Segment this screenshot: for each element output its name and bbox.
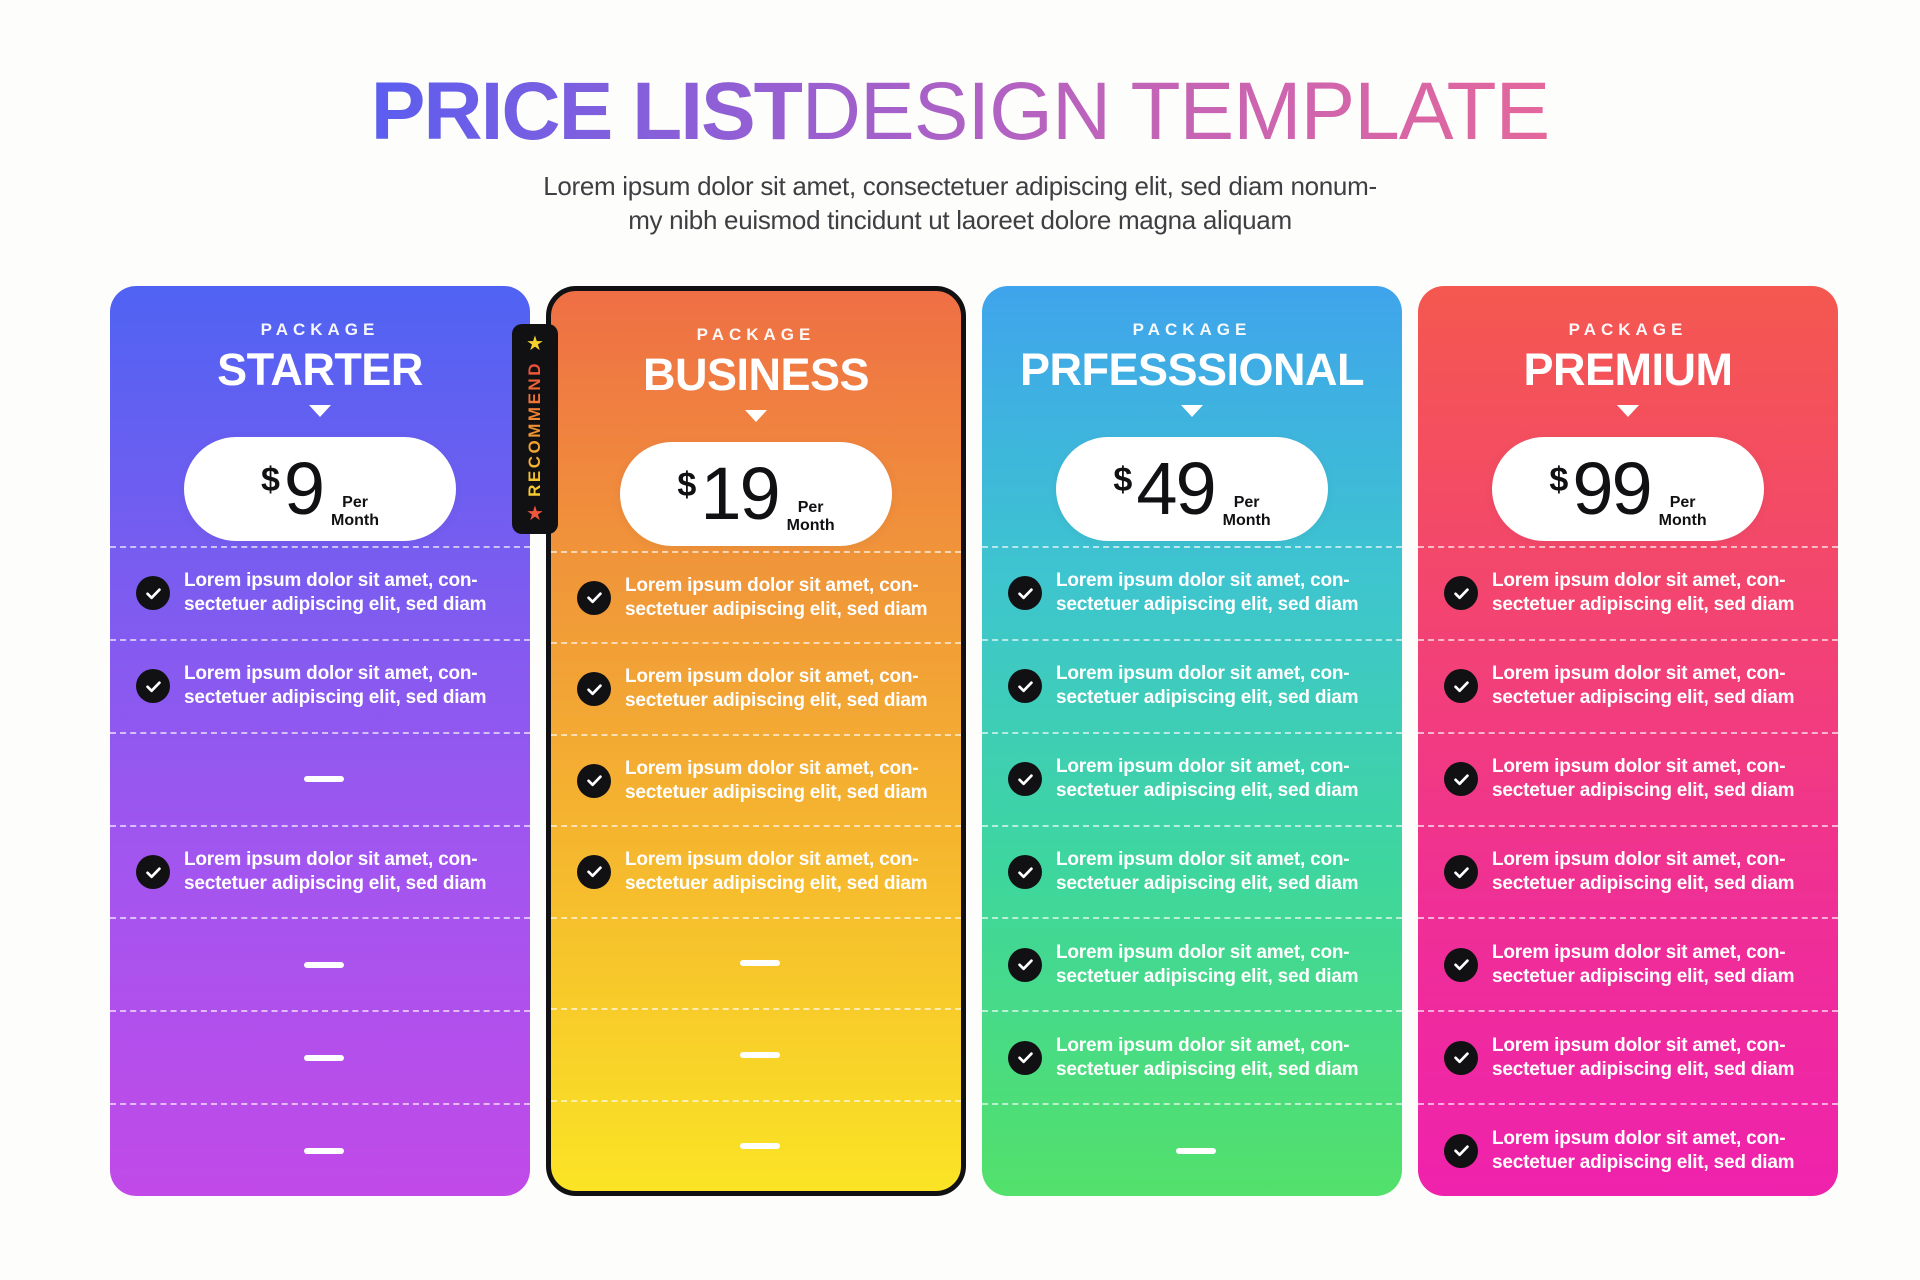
- feature-label: Lorem ipsum dolor sit amet, con-sectetue…: [1056, 755, 1358, 803]
- feature-row-included: Lorem ipsum dolor sit amet, con-sectetue…: [1418, 639, 1838, 732]
- pricing-card-body: PACKAGEBUSINESS$19PerMonthLorem ipsum do…: [546, 286, 966, 1196]
- feature-label-line-2: sectetuer adipiscing elit, sed diam: [184, 594, 486, 615]
- feature-label: Lorem ipsum dolor sit amet, con-sectetue…: [184, 569, 486, 617]
- check-icon: [1444, 948, 1478, 982]
- recommend-badge-label: RECOMMEND: [525, 361, 545, 497]
- feature-row-included: Lorem ipsum dolor sit amet, con-sectetue…: [1418, 917, 1838, 1010]
- feature-label-line-1: Lorem ipsum dolor sit amet, con-: [625, 758, 918, 779]
- billing-period: PerMonth: [787, 499, 835, 534]
- billing-period-line-2: Month: [1659, 512, 1707, 529]
- pricing-card-prfesssional[interactable]: PACKAGEPRFESSSIONAL$49PerMonthLorem ipsu…: [982, 286, 1402, 1196]
- feature-label: Lorem ipsum dolor sit amet, con-sectetue…: [1056, 941, 1358, 989]
- feature-label-line-1: Lorem ipsum dolor sit amet, con-: [1492, 849, 1785, 870]
- feature-label-line-2: sectetuer adipiscing elit, sed diam: [1056, 1059, 1358, 1080]
- feature-row-excluded: [110, 1103, 530, 1196]
- pricing-card-header: PACKAGEPRFESSSIONAL$49PerMonth: [982, 286, 1402, 546]
- dash-icon: [304, 776, 344, 782]
- feature-label-line-2: sectetuer adipiscing elit, sed diam: [1492, 966, 1794, 987]
- feature-label: Lorem ipsum dolor sit amet, con-sectetue…: [1492, 755, 1794, 803]
- price-pill[interactable]: $19PerMonth: [620, 442, 892, 546]
- dash-icon: [740, 960, 780, 966]
- feature-row-included: Lorem ipsum dolor sit amet, con-sectetue…: [110, 825, 530, 918]
- feature-row-included: Lorem ipsum dolor sit amet, con-sectetue…: [551, 642, 961, 733]
- star-icon-top: ★: [526, 334, 544, 354]
- feature-label-line-2: sectetuer adipiscing elit, sed diam: [1056, 873, 1358, 894]
- billing-period-line-2: Month: [787, 517, 835, 534]
- feature-label: Lorem ipsum dolor sit amet, con-sectetue…: [1492, 569, 1794, 617]
- feature-row-included: Lorem ipsum dolor sit amet, con-sectetue…: [982, 732, 1402, 825]
- pricing-card-header: PACKAGEBUSINESS$19PerMonth: [551, 291, 961, 551]
- chevron-down-icon: [745, 410, 767, 422]
- feature-label: Lorem ipsum dolor sit amet, con-sectetue…: [1056, 848, 1358, 896]
- check-icon: [1444, 855, 1478, 889]
- feature-label: Lorem ipsum dolor sit amet, con-sectetue…: [184, 662, 486, 710]
- feature-row-included: Lorem ipsum dolor sit amet, con-sectetue…: [1418, 825, 1838, 918]
- package-name: PRFESSSIONAL: [982, 346, 1402, 393]
- feature-row-included: Lorem ipsum dolor sit amet, con-sectetue…: [1418, 546, 1838, 639]
- currency-symbol: $: [1549, 461, 1568, 500]
- check-icon: [577, 672, 611, 706]
- check-icon: [1444, 576, 1478, 610]
- dash-icon: [740, 1052, 780, 1058]
- feature-label-line-1: Lorem ipsum dolor sit amet, con-: [184, 570, 477, 591]
- pricing-card-starter[interactable]: PACKAGESTARTER$9PerMonthLorem ipsum dolo…: [110, 286, 530, 1196]
- check-icon: [1444, 669, 1478, 703]
- check-icon: [1444, 762, 1478, 796]
- billing-period: PerMonth: [1659, 494, 1707, 529]
- feature-label-line-2: sectetuer adipiscing elit, sed diam: [1492, 780, 1794, 801]
- page-title-light: DESIGN TEMPLATE: [802, 66, 1549, 157]
- feature-label-line-1: Lorem ipsum dolor sit amet, con-: [1492, 570, 1785, 591]
- feature-label-line-1: Lorem ipsum dolor sit amet, con-: [1056, 570, 1349, 591]
- dash-icon: [304, 1148, 344, 1154]
- price-amount: 19: [700, 457, 778, 531]
- feature-row-included: Lorem ipsum dolor sit amet, con-sectetue…: [982, 546, 1402, 639]
- feature-label-line-2: sectetuer adipiscing elit, sed diam: [184, 873, 486, 894]
- recommend-badge: ★RECOMMEND★: [512, 324, 558, 534]
- check-icon: [1008, 855, 1042, 889]
- feature-row-included: Lorem ipsum dolor sit amet, con-sectetue…: [1418, 1010, 1838, 1103]
- package-name: BUSINESS: [551, 351, 961, 398]
- page-title: PRICE LISTDESIGN TEMPLATE: [0, 72, 1920, 152]
- feature-label-line-2: sectetuer adipiscing elit, sed diam: [625, 690, 927, 711]
- feature-label: Lorem ipsum dolor sit amet, con-sectetue…: [1492, 1127, 1794, 1175]
- pricing-card-premium[interactable]: PACKAGEPREMIUM$99PerMonthLorem ipsum dol…: [1418, 286, 1838, 1196]
- feature-row-included: Lorem ipsum dolor sit amet, con-sectetue…: [110, 546, 530, 639]
- check-icon: [1444, 1041, 1478, 1075]
- billing-period-line-2: Month: [1223, 512, 1271, 529]
- pricing-card-header: PACKAGEPREMIUM$99PerMonth: [1418, 286, 1838, 546]
- feature-label-line-1: Lorem ipsum dolor sit amet, con-: [1056, 849, 1349, 870]
- feature-row-excluded: [982, 1103, 1402, 1196]
- billing-period: PerMonth: [331, 494, 379, 529]
- feature-label-line-2: sectetuer adipiscing elit, sed diam: [625, 599, 927, 620]
- feature-label-line-1: Lorem ipsum dolor sit amet, con-: [184, 849, 477, 870]
- feature-label: Lorem ipsum dolor sit amet, con-sectetue…: [1056, 662, 1358, 710]
- feature-row-included: Lorem ipsum dolor sit amet, con-sectetue…: [110, 639, 530, 732]
- price-amount: 9: [284, 452, 323, 526]
- feature-label: Lorem ipsum dolor sit amet, con-sectetue…: [1492, 941, 1794, 989]
- feature-label-line-1: Lorem ipsum dolor sit amet, con-: [1056, 663, 1349, 684]
- feature-row-excluded: [110, 1010, 530, 1103]
- package-label: PACKAGE: [982, 320, 1402, 340]
- feature-row-included: Lorem ipsum dolor sit amet, con-sectetue…: [1418, 1103, 1838, 1196]
- feature-label-line-1: Lorem ipsum dolor sit amet, con-: [1056, 1035, 1349, 1056]
- page-subtitle-line-2: my nibh euismod tincidunt ut laoreet dol…: [0, 204, 1920, 237]
- billing-period-line-1: Per: [1670, 494, 1696, 511]
- feature-label: Lorem ipsum dolor sit amet, con-sectetue…: [1056, 1034, 1358, 1082]
- feature-label-line-1: Lorem ipsum dolor sit amet, con-: [184, 663, 477, 684]
- feature-row-included: Lorem ipsum dolor sit amet, con-sectetue…: [551, 825, 961, 916]
- check-icon: [1008, 576, 1042, 610]
- pricing-card-business[interactable]: PACKAGEBUSINESS$19PerMonthLorem ipsum do…: [546, 286, 966, 1196]
- check-icon: [1008, 762, 1042, 796]
- dash-icon: [304, 962, 344, 968]
- feature-label: Lorem ipsum dolor sit amet, con-sectetue…: [1492, 1034, 1794, 1082]
- dash-icon: [304, 1055, 344, 1061]
- feature-label-line-1: Lorem ipsum dolor sit amet, con-: [1492, 663, 1785, 684]
- billing-period-line-1: Per: [342, 494, 368, 511]
- feature-label: Lorem ipsum dolor sit amet, con-sectetue…: [1492, 662, 1794, 710]
- billing-period-line-2: Month: [331, 512, 379, 529]
- pricing-cards-row: PACKAGESTARTER$9PerMonthLorem ipsum dolo…: [110, 286, 1838, 1196]
- feature-label-line-2: sectetuer adipiscing elit, sed diam: [1056, 687, 1358, 708]
- dash-icon: [740, 1143, 780, 1149]
- feature-label-line-2: sectetuer adipiscing elit, sed diam: [1056, 594, 1358, 615]
- feature-row-included: Lorem ipsum dolor sit amet, con-sectetue…: [982, 917, 1402, 1010]
- check-icon: [577, 581, 611, 615]
- feature-label-line-1: Lorem ipsum dolor sit amet, con-: [625, 666, 918, 687]
- feature-row-included: Lorem ipsum dolor sit amet, con-sectetue…: [982, 639, 1402, 732]
- feature-label-line-2: sectetuer adipiscing elit, sed diam: [625, 873, 927, 894]
- feature-row-excluded: [551, 1008, 961, 1099]
- page-title-bold: PRICE LIST: [371, 66, 802, 157]
- feature-label-line-2: sectetuer adipiscing elit, sed diam: [1492, 687, 1794, 708]
- price-pill[interactable]: $99PerMonth: [1492, 437, 1764, 541]
- feature-row-excluded: [551, 1100, 961, 1191]
- feature-row-excluded: [110, 917, 530, 1010]
- feature-label-line-2: sectetuer adipiscing elit, sed diam: [1492, 1152, 1794, 1173]
- feature-label-line-2: sectetuer adipiscing elit, sed diam: [1492, 873, 1794, 894]
- feature-row-included: Lorem ipsum dolor sit amet, con-sectetue…: [551, 551, 961, 642]
- chevron-down-icon: [1617, 405, 1639, 417]
- feature-label-line-2: sectetuer adipiscing elit, sed diam: [625, 782, 927, 803]
- feature-label-line-2: sectetuer adipiscing elit, sed diam: [184, 687, 486, 708]
- check-icon: [577, 764, 611, 798]
- dash-icon: [1176, 1148, 1216, 1154]
- feature-list: Lorem ipsum dolor sit amet, con-sectetue…: [1418, 546, 1838, 1196]
- feature-label-line-1: Lorem ipsum dolor sit amet, con-: [1492, 756, 1785, 777]
- pricing-card-body: PACKAGESTARTER$9PerMonthLorem ipsum dolo…: [110, 286, 530, 1196]
- package-label: PACKAGE: [110, 320, 530, 340]
- feature-label: Lorem ipsum dolor sit amet, con-sectetue…: [184, 848, 486, 896]
- pricing-card-body: PACKAGEPREMIUM$99PerMonthLorem ipsum dol…: [1418, 286, 1838, 1196]
- pricing-card-body: PACKAGEPRFESSSIONAL$49PerMonthLorem ipsu…: [982, 286, 1402, 1196]
- feature-label: Lorem ipsum dolor sit amet, con-sectetue…: [625, 757, 927, 805]
- feature-label-line-2: sectetuer adipiscing elit, sed diam: [1056, 966, 1358, 987]
- currency-symbol: $: [677, 466, 696, 505]
- feature-row-excluded: [551, 917, 961, 1008]
- feature-label: Lorem ipsum dolor sit amet, con-sectetue…: [625, 848, 927, 896]
- feature-label-line-1: Lorem ipsum dolor sit amet, con-: [625, 849, 918, 870]
- currency-symbol: $: [1113, 461, 1132, 500]
- billing-period-line-1: Per: [798, 499, 824, 516]
- feature-label: Lorem ipsum dolor sit amet, con-sectetue…: [1056, 569, 1358, 617]
- currency-symbol: $: [261, 461, 280, 500]
- price-amount: 49: [1136, 452, 1214, 526]
- check-icon: [136, 576, 170, 610]
- check-icon: [1008, 669, 1042, 703]
- check-icon: [136, 855, 170, 889]
- check-icon: [136, 669, 170, 703]
- price-list-page: PRICE LISTDESIGN TEMPLATE Lorem ipsum do…: [0, 0, 1920, 1280]
- pricing-card-header: PACKAGESTARTER$9PerMonth: [110, 286, 530, 546]
- price-amount: 99: [1572, 452, 1650, 526]
- page-header: PRICE LISTDESIGN TEMPLATE Lorem ipsum do…: [0, 0, 1920, 237]
- billing-period: PerMonth: [1223, 494, 1271, 529]
- feature-label: Lorem ipsum dolor sit amet, con-sectetue…: [625, 665, 927, 713]
- package-name: STARTER: [110, 346, 530, 393]
- price-pill[interactable]: $49PerMonth: [1056, 437, 1328, 541]
- package-label: PACKAGE: [551, 325, 961, 345]
- feature-row-included: Lorem ipsum dolor sit amet, con-sectetue…: [551, 734, 961, 825]
- package-name: PREMIUM: [1418, 346, 1838, 393]
- feature-row-included: Lorem ipsum dolor sit amet, con-sectetue…: [982, 825, 1402, 918]
- page-subtitle-line-1: Lorem ipsum dolor sit amet, consectetuer…: [0, 170, 1920, 203]
- feature-label-line-1: Lorem ipsum dolor sit amet, con-: [625, 575, 918, 596]
- feature-list: Lorem ipsum dolor sit amet, con-sectetue…: [110, 546, 530, 1196]
- check-icon: [1444, 1134, 1478, 1168]
- chevron-down-icon: [1181, 405, 1203, 417]
- page-subtitle: Lorem ipsum dolor sit amet, consectetuer…: [0, 170, 1920, 237]
- feature-label-line-1: Lorem ipsum dolor sit amet, con-: [1056, 942, 1349, 963]
- feature-row-included: Lorem ipsum dolor sit amet, con-sectetue…: [1418, 732, 1838, 825]
- feature-label-line-1: Lorem ipsum dolor sit amet, con-: [1056, 756, 1349, 777]
- feature-label-line-1: Lorem ipsum dolor sit amet, con-: [1492, 1128, 1785, 1149]
- feature-label-line-2: sectetuer adipiscing elit, sed diam: [1056, 780, 1358, 801]
- feature-label-line-1: Lorem ipsum dolor sit amet, con-: [1492, 1035, 1785, 1056]
- feature-list: Lorem ipsum dolor sit amet, con-sectetue…: [551, 551, 961, 1191]
- feature-label: Lorem ipsum dolor sit amet, con-sectetue…: [1492, 848, 1794, 896]
- feature-label-line-2: sectetuer adipiscing elit, sed diam: [1492, 1059, 1794, 1080]
- check-icon: [577, 855, 611, 889]
- check-icon: [1008, 948, 1042, 982]
- billing-period-line-1: Per: [1234, 494, 1260, 511]
- feature-label: Lorem ipsum dolor sit amet, con-sectetue…: [625, 574, 927, 622]
- chevron-down-icon: [309, 405, 331, 417]
- package-label: PACKAGE: [1418, 320, 1838, 340]
- star-icon-bottom: ★: [526, 504, 544, 524]
- feature-label-line-2: sectetuer adipiscing elit, sed diam: [1492, 594, 1794, 615]
- feature-row-excluded: [110, 732, 530, 825]
- price-pill[interactable]: $9PerMonth: [184, 437, 456, 541]
- feature-label-line-1: Lorem ipsum dolor sit amet, con-: [1492, 942, 1785, 963]
- feature-list: Lorem ipsum dolor sit amet, con-sectetue…: [982, 546, 1402, 1196]
- check-icon: [1008, 1041, 1042, 1075]
- feature-row-included: Lorem ipsum dolor sit amet, con-sectetue…: [982, 1010, 1402, 1103]
